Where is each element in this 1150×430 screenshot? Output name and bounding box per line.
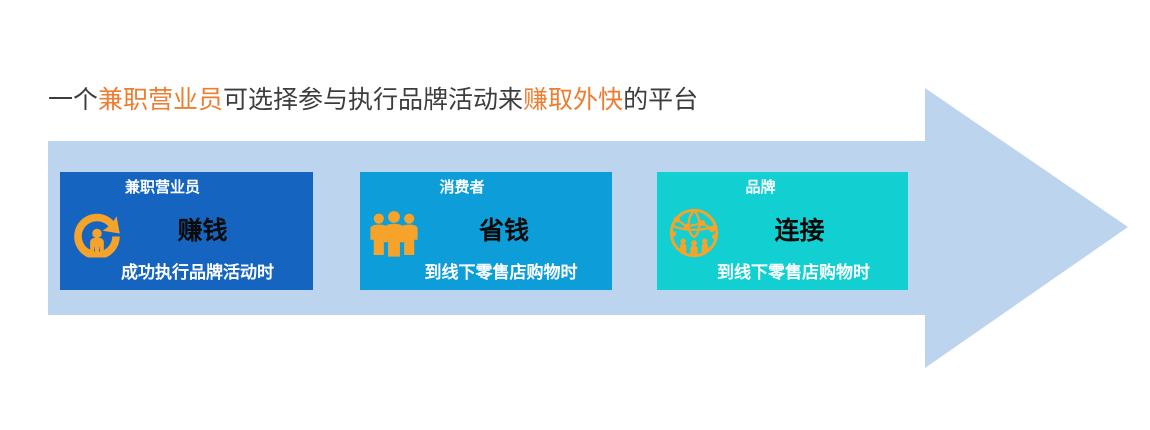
slide-canvas: 一个兼职营业员可选择参与执行品牌活动来赚取外快的平台 兼职营业员 赚钱 成功执行…	[0, 0, 1150, 430]
card-main-label: 赚钱	[60, 216, 313, 248]
card-footer-label: 到线下零售店购物时	[360, 262, 612, 284]
card-header-label: 消费者	[360, 178, 612, 198]
card-header-label: 品牌	[657, 178, 908, 198]
card-main-label: 省钱	[360, 216, 612, 248]
value-cards-row: 兼职营业员 赚钱 成功执行品牌活动时 消费者 省钱 到线下零售店购物时	[0, 0, 1150, 430]
card-header-label: 兼职营业员	[60, 178, 313, 198]
card-footer-label: 成功执行品牌活动时	[60, 262, 313, 284]
card-footer-label: 到线下零售店购物时	[657, 262, 908, 284]
value-card-brand[interactable]: 品牌 连接 到线下零售店购物时	[657, 172, 908, 290]
card-main-label: 连接	[657, 216, 908, 248]
value-card-consumer[interactable]: 消费者 省钱 到线下零售店购物时	[360, 172, 612, 290]
value-card-parttime-salesperson[interactable]: 兼职营业员 赚钱 成功执行品牌活动时	[60, 172, 313, 290]
